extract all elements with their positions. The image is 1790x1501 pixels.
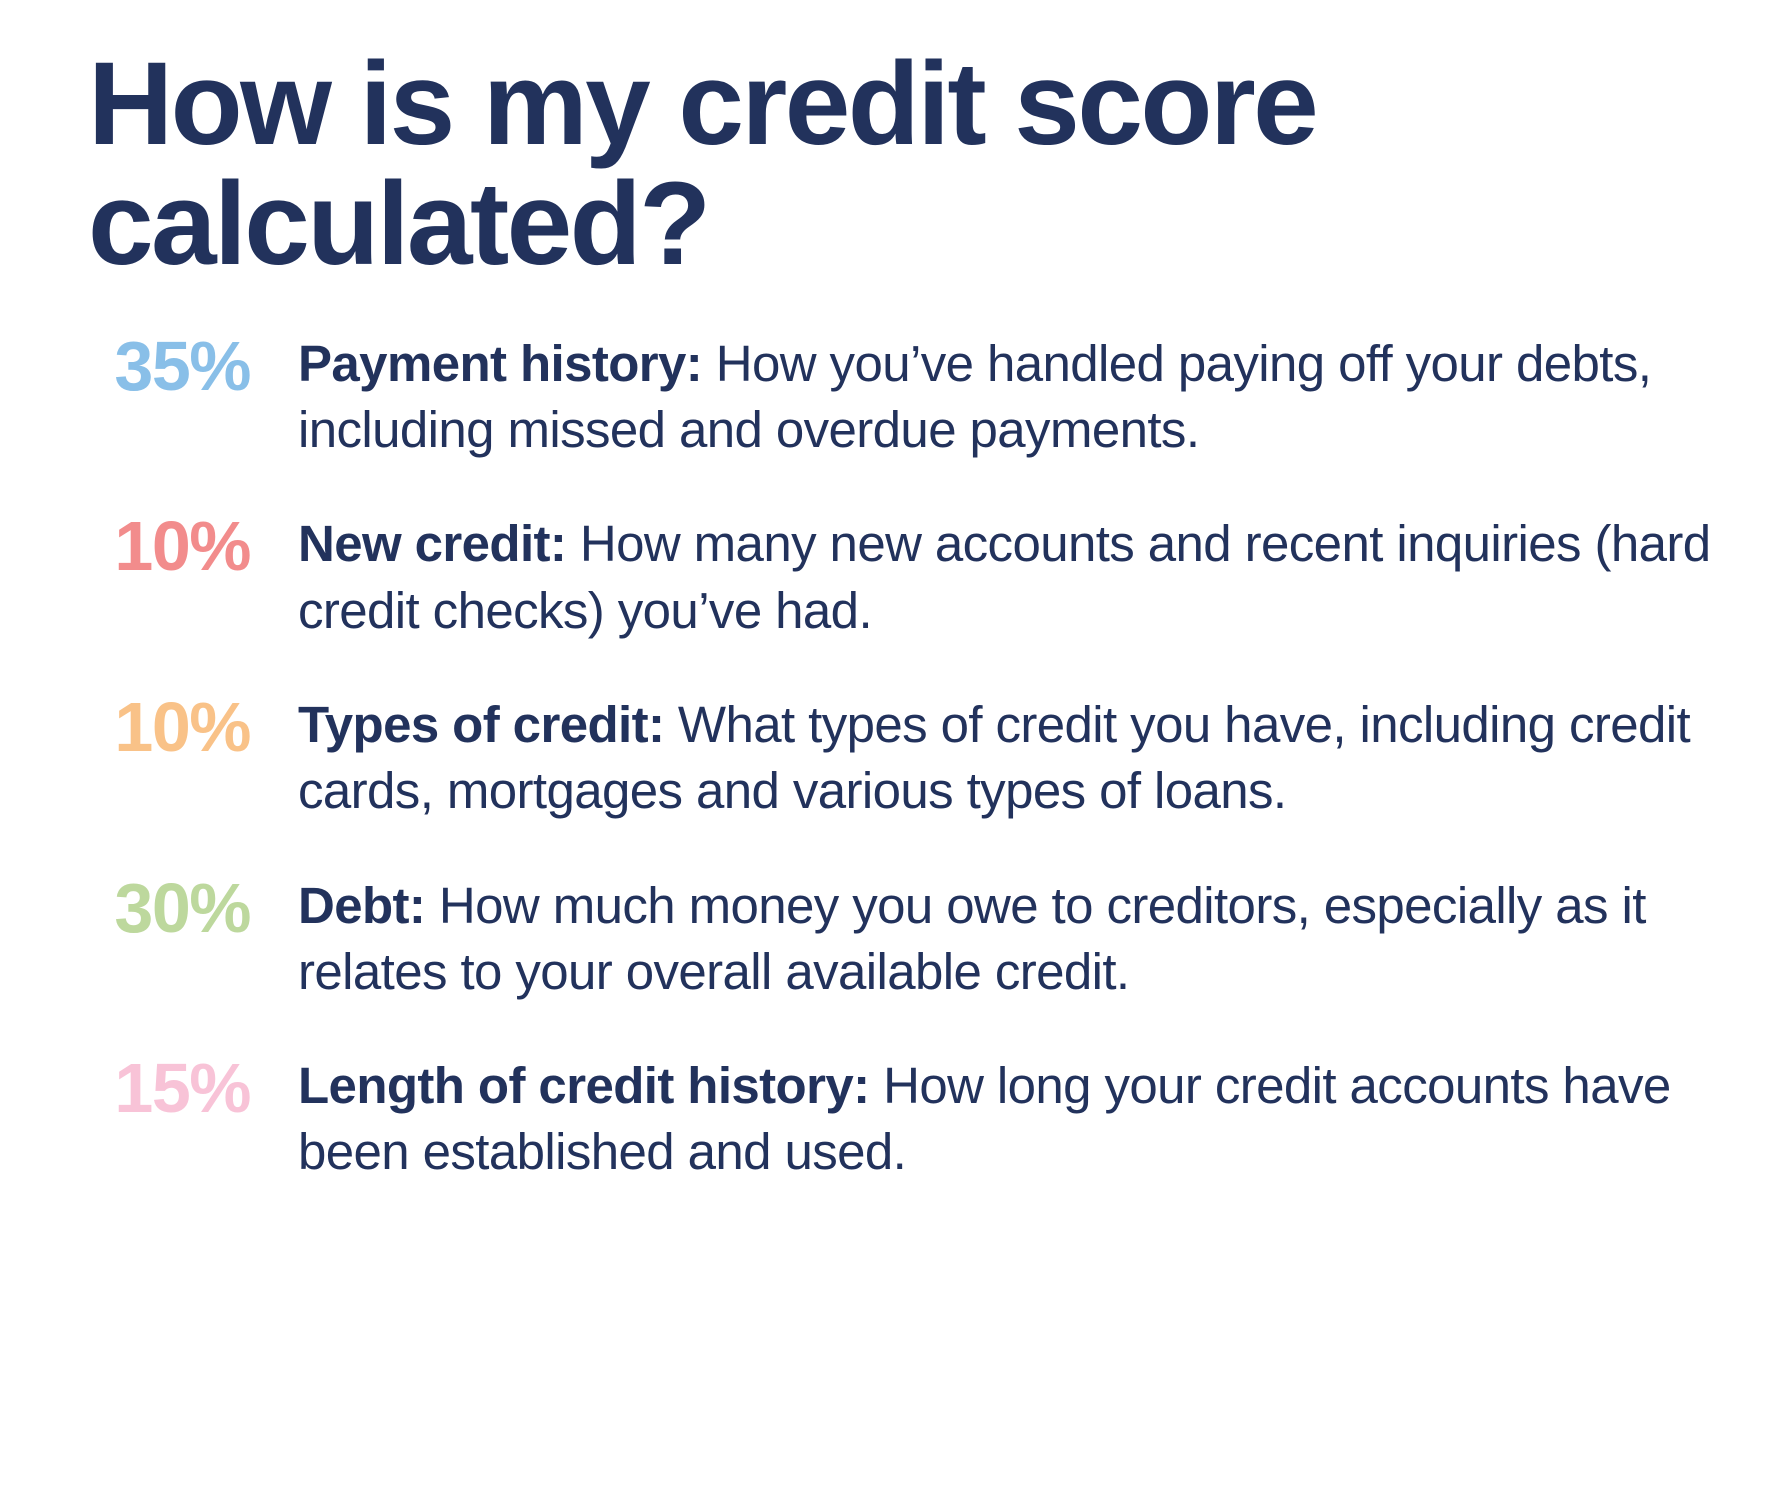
factor-label-types-of-credit: Types of credit: — [298, 696, 664, 753]
factor-label-new-credit: New credit: — [298, 515, 566, 572]
factor-description-payment-history: Payment history: How you’ve handled payi… — [298, 329, 1730, 464]
list-item: 15% Length of credit history: How long y… — [88, 1051, 1730, 1186]
factor-description-debt: Debt: How much money you owe to creditor… — [298, 871, 1730, 1006]
factor-percent-new-credit: 10% — [88, 509, 298, 583]
factor-description-length-of-credit-history: Length of credit history: How long your … — [298, 1051, 1730, 1186]
factor-percent-payment-history: 35% — [88, 329, 298, 403]
factor-percent-length-of-credit-history: 15% — [88, 1051, 298, 1125]
factor-label-length-of-credit-history: Length of credit history: — [298, 1057, 870, 1114]
list-item: 35% Payment history: How you’ve handled … — [88, 329, 1730, 464]
factor-body-debt: How much money you owe to creditors, esp… — [298, 877, 1646, 1000]
factor-label-debt: Debt: — [298, 877, 425, 934]
factor-description-types-of-credit: Types of credit: What types of credit yo… — [298, 690, 1730, 825]
factor-percent-debt: 30% — [88, 871, 298, 945]
credit-score-infographic: How is my credit score calculated? 35% P… — [0, 0, 1790, 1501]
credit-factor-list: 35% Payment history: How you’ve handled … — [88, 329, 1730, 1186]
page-title: How is my credit score calculated? — [88, 44, 1648, 285]
list-item: 10% New credit: How many new accounts an… — [88, 509, 1730, 644]
factor-description-new-credit: New credit: How many new accounts and re… — [298, 509, 1730, 644]
factor-percent-types-of-credit: 10% — [88, 690, 298, 764]
factor-label-payment-history: Payment history: — [298, 335, 702, 392]
list-item: 10% Types of credit: What types of credi… — [88, 690, 1730, 825]
list-item: 30% Debt: How much money you owe to cred… — [88, 871, 1730, 1006]
